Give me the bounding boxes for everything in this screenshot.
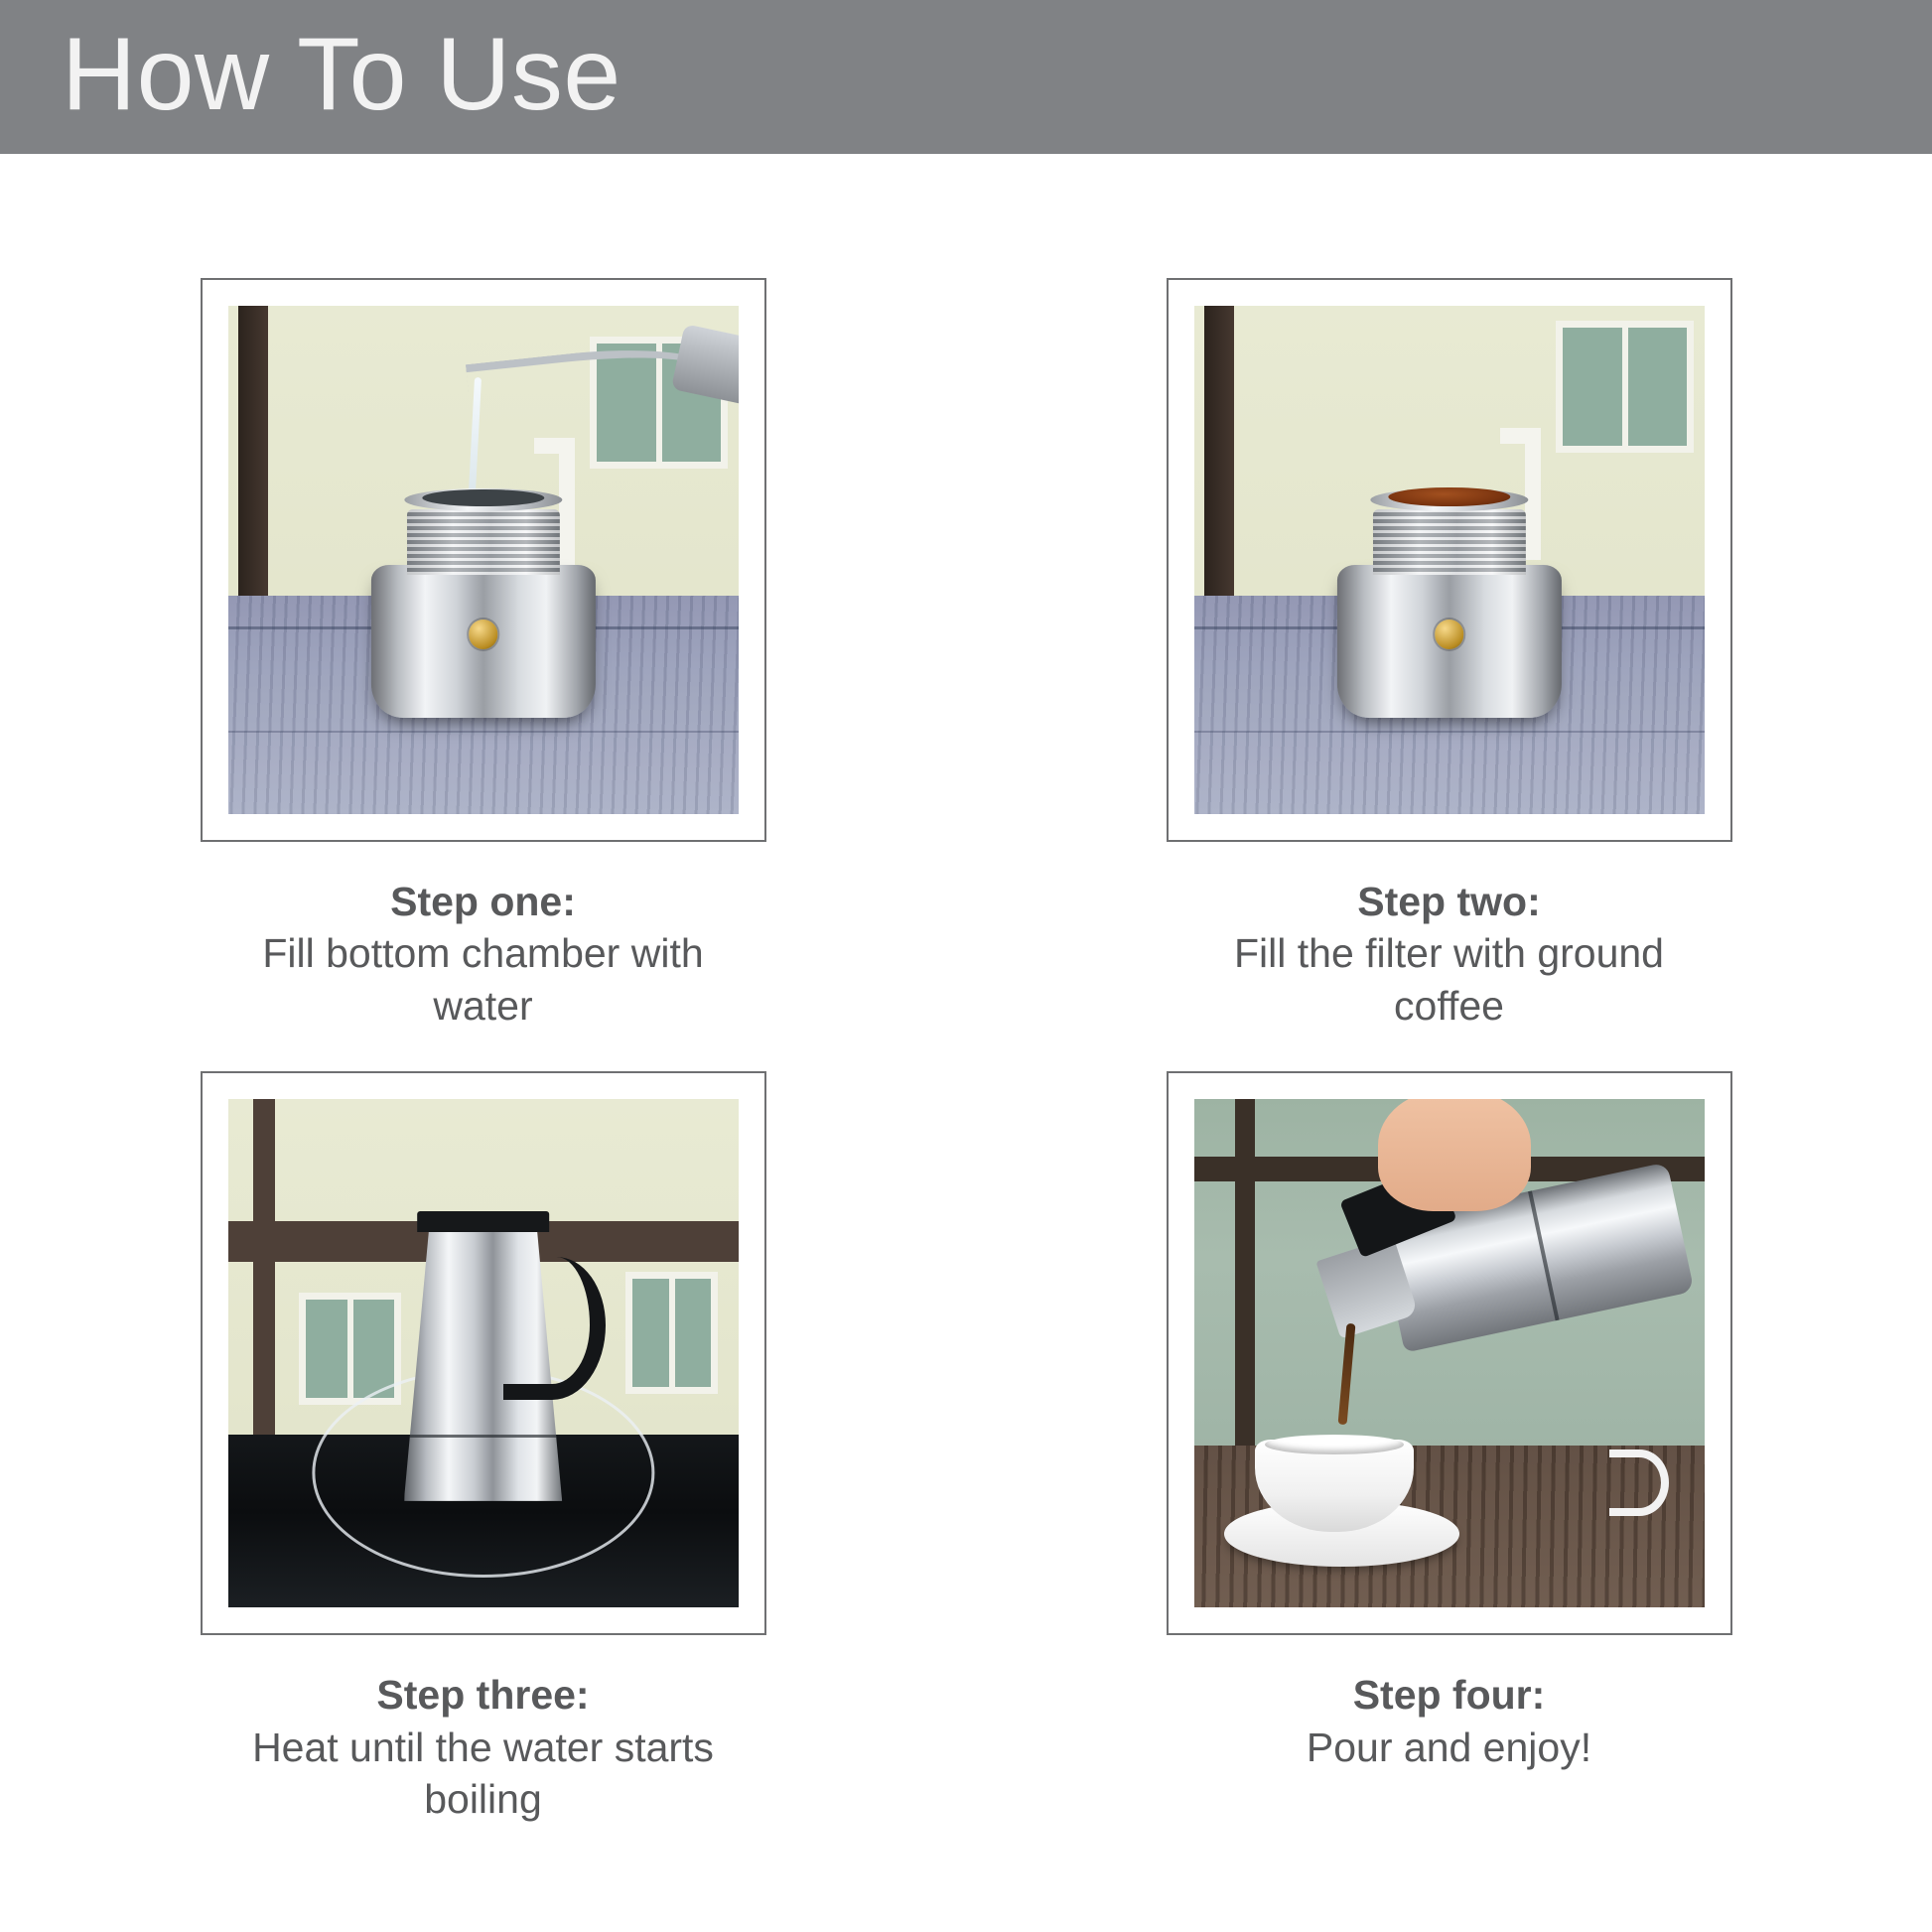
hand-icon <box>1378 1099 1531 1211</box>
step-three-photo <box>228 1099 739 1607</box>
step-two-description: Fill the filter with ground coffee <box>1191 927 1708 1032</box>
step-four-photo <box>1194 1099 1705 1607</box>
moka-pot-neck <box>1372 509 1525 576</box>
step-card-four: Step four: Pour and enjoy! <box>966 1071 1932 1825</box>
steps-grid: Step one: Fill bottom chamber with water… <box>0 154 1932 1826</box>
step-four-caption: Step four: Pour and enjoy! <box>1307 1669 1591 1773</box>
step-two-title: Step two: <box>1191 876 1708 927</box>
moka-pot-neck <box>406 509 559 576</box>
header-banner: How To Use <box>0 0 1932 154</box>
background-pipe <box>1525 428 1541 560</box>
step-one-description: Fill bottom chamber with water <box>225 927 742 1032</box>
window-post-icon <box>253 1099 275 1435</box>
step-two-photo <box>1194 306 1705 814</box>
step-one-title: Step one: <box>225 876 742 927</box>
coffee-cup-handle <box>1609 1449 1668 1516</box>
background-pipe <box>559 438 575 570</box>
step-three-description: Heat until the water starts boiling <box>225 1722 742 1826</box>
page-title: How To Use <box>62 23 621 126</box>
background-window <box>1556 321 1694 453</box>
step-one-photo-frame <box>201 278 766 842</box>
step-two-caption: Step two: Fill the filter with ground co… <box>1191 876 1708 1032</box>
moka-pot-lid <box>417 1211 550 1231</box>
step-four-title: Step four: <box>1307 1669 1591 1721</box>
step-one-photo <box>228 306 739 814</box>
step-card-one: Step one: Fill bottom chamber with water <box>0 278 966 1032</box>
background-pipe-elbow <box>534 438 575 454</box>
step-four-description: Pour and enjoy! <box>1307 1722 1591 1773</box>
step-one-caption: Step one: Fill bottom chamber with water <box>225 876 742 1032</box>
moka-pot-base <box>1336 565 1561 718</box>
background-pipe-elbow <box>1500 428 1541 444</box>
step-three-caption: Step three: Heat until the water starts … <box>225 1669 742 1825</box>
step-three-photo-frame <box>201 1071 766 1635</box>
step-three-title: Step three: <box>225 1669 742 1721</box>
step-two-photo-frame <box>1167 278 1732 842</box>
background-window-right <box>625 1272 718 1394</box>
moka-pot-base <box>370 565 595 718</box>
step-card-two: Step two: Fill the filter with ground co… <box>966 278 1932 1032</box>
step-card-three: Step three: Heat until the water starts … <box>0 1071 966 1825</box>
step-four-photo-frame <box>1167 1071 1732 1635</box>
